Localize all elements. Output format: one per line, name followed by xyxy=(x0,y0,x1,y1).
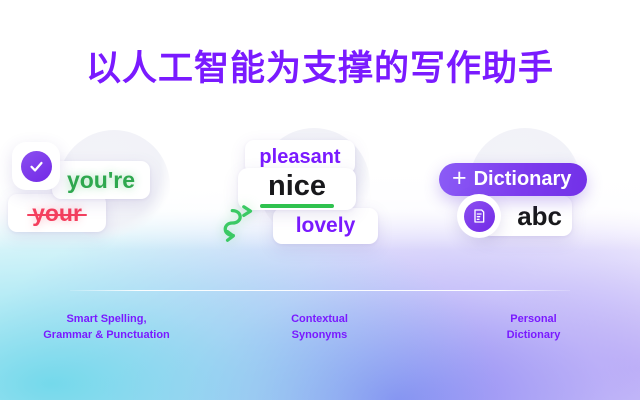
book-icon xyxy=(471,208,487,224)
base-word-underline xyxy=(260,204,334,208)
correct-word-text: you're xyxy=(67,167,135,194)
check-badge-tile[interactable] xyxy=(12,142,60,190)
feature-card-personal-dictionary: + Dictionary abc xyxy=(427,120,640,280)
base-word-text: nice xyxy=(268,170,326,203)
feature-card-smart-spelling: you're your xyxy=(0,120,213,280)
caption-line-2: Dictionary xyxy=(427,328,640,344)
sample-text: abc xyxy=(517,201,562,232)
incorrect-word-text: your xyxy=(32,200,82,227)
add-dictionary-label: Dictionary xyxy=(474,168,572,191)
caption-personal-dictionary: Personal Dictionary xyxy=(427,312,640,343)
synonym-chip-bottom[interactable]: lovely xyxy=(273,208,378,244)
suggestion-chip-correct[interactable]: you're xyxy=(52,161,150,199)
caption-line-1: Contextual xyxy=(213,312,426,328)
book-badge-tile[interactable] xyxy=(457,194,501,238)
caption-line-1: Personal xyxy=(427,312,640,328)
swap-arrows-icon[interactable] xyxy=(219,202,259,246)
feature-card-contextual-synonyms: pleasant nice lovely xyxy=(213,120,426,280)
caption-line-2: Grammar & Punctuation xyxy=(0,328,213,344)
suggestion-chip-incorrect[interactable]: your xyxy=(8,194,106,232)
caption-contextual-synonyms: Contextual Synonyms xyxy=(213,312,426,343)
caption-smart-spelling: Smart Spelling, Grammar & Punctuation xyxy=(0,312,213,343)
synonym-top-text: pleasant xyxy=(259,146,340,169)
page-title: 以人工智能为支撑的写作助手 xyxy=(0,40,640,91)
caption-line-2: Synonyms xyxy=(213,328,426,344)
synonym-bottom-text: lovely xyxy=(296,214,356,238)
check-icon xyxy=(28,158,45,175)
plus-icon: + xyxy=(452,166,467,191)
add-dictionary-button[interactable]: + Dictionary xyxy=(439,163,587,196)
caption-line-1: Smart Spelling, xyxy=(0,312,213,328)
promo-banner: 以人工智能为支撑的写作助手 you're your pleasant nice xyxy=(0,0,640,400)
check-badge-circle xyxy=(21,151,52,182)
book-badge-circle xyxy=(464,201,495,232)
section-divider xyxy=(70,290,570,291)
